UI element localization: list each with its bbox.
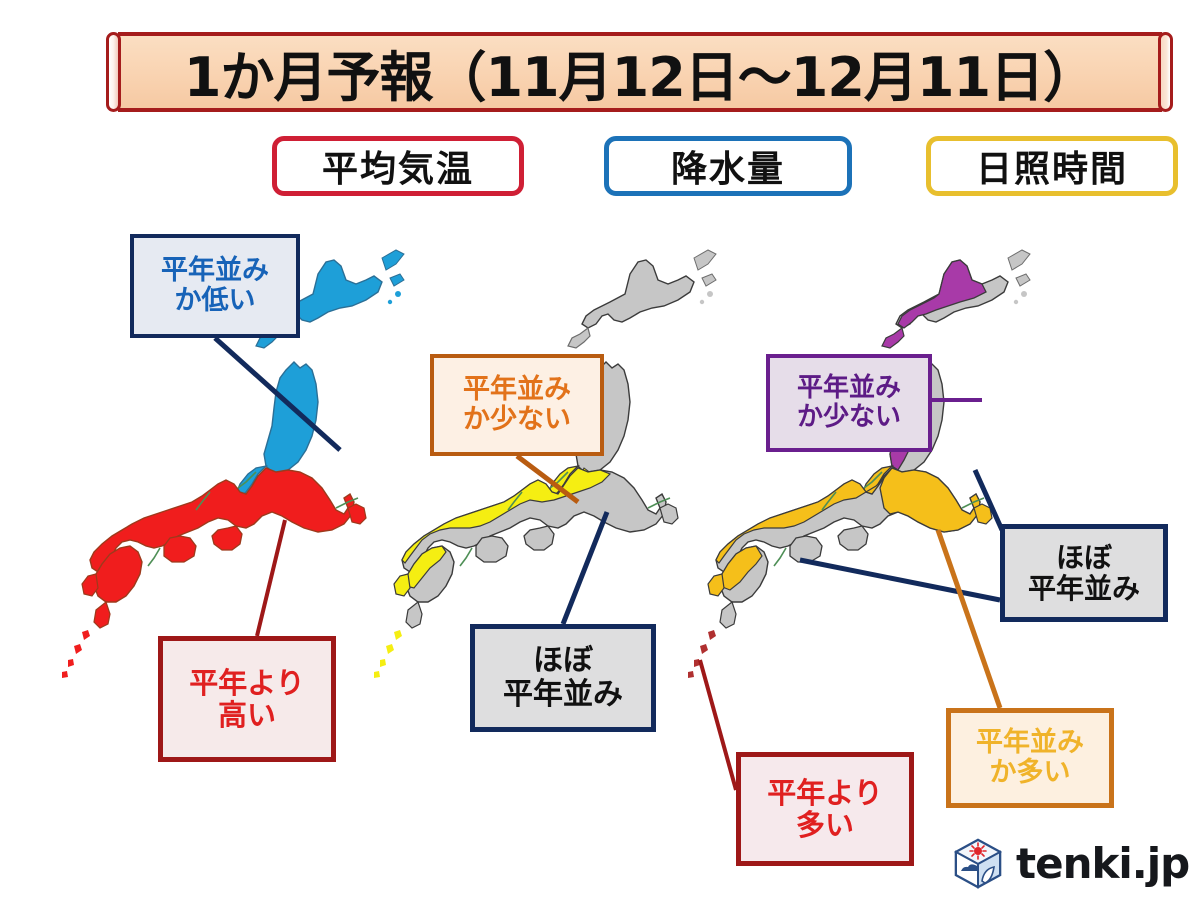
map-precipitation [372, 236, 702, 676]
callout-line-2: か少ない [463, 405, 571, 435]
region-nansei-islands [62, 630, 90, 678]
callout-line-2: 多い [796, 809, 854, 841]
callout-sunshine-more: 平年並み か多い [946, 708, 1114, 808]
logo-text: tenki.jp [1016, 839, 1189, 888]
callout-line-1: 平年より [189, 667, 304, 699]
leader-prec-more [700, 660, 736, 790]
callout-temperature-low: 平年並み か低い [130, 234, 300, 338]
callout-precipitation-more: 平年より 多い [736, 752, 914, 866]
region-honshu [394, 468, 678, 628]
callout-line-1: 平年より [767, 777, 882, 809]
category-chip-sunshine[interactable]: 日照時間 [926, 136, 1178, 196]
callout-line-2: 平年並み [503, 678, 623, 712]
title-banner: 1か月予報（11月12日～12月11日） [104, 26, 1176, 118]
callout-line-1: ほぼ [1056, 542, 1112, 573]
category-label-precipitation: 降水量 [671, 140, 785, 192]
callout-line-2: か多い [990, 758, 1071, 788]
region-honshu [708, 468, 992, 628]
category-chip-temperature[interactable]: 平均気温 [272, 136, 524, 196]
map-sunshine [686, 236, 1016, 676]
category-label-temperature: 平均気温 [322, 140, 474, 192]
tenki-cube-icon [952, 837, 1004, 889]
callout-line-1: 平年並み [797, 374, 901, 403]
tenki-jp-logo[interactable]: tenki.jp [952, 836, 1189, 890]
callout-precipitation-normal: ほぼ 平年並み [470, 624, 656, 732]
infographic-canvas: 1か月予報（11月12日～12月11日） 平均気温 降水量 日照時間 [0, 0, 1200, 900]
callout-line-2: か少ない [797, 403, 901, 432]
callout-line-2: 高い [218, 699, 276, 731]
callout-sunshine-normal: ほぼ 平年並み [1000, 524, 1168, 622]
callout-line-1: 平年並み [161, 256, 269, 286]
category-chip-precipitation[interactable]: 降水量 [604, 136, 852, 196]
callout-sunshine-less: 平年並み か少ない [766, 354, 932, 452]
category-label-sunshine: 日照時間 [976, 140, 1128, 192]
callout-line-1: 平年並み [463, 375, 571, 405]
callout-temperature-high: 平年より 高い [158, 636, 336, 762]
region-nansei-islands [688, 630, 716, 678]
callout-precipitation-less: 平年並み か少ない [430, 354, 604, 456]
callout-line-1: ほぼ [533, 644, 593, 678]
region-nansei-islands [374, 630, 402, 678]
sun-glyph [970, 843, 986, 859]
callout-line-2: 平年並み [1028, 573, 1140, 604]
callout-line-1: 平年並み [976, 728, 1084, 758]
page-title: 1か月予報（11月12日～12月11日） [104, 26, 1176, 118]
region-honshu-west [82, 468, 366, 628]
callout-line-2: か低い [175, 286, 256, 316]
region-hokkaido [882, 250, 1030, 348]
